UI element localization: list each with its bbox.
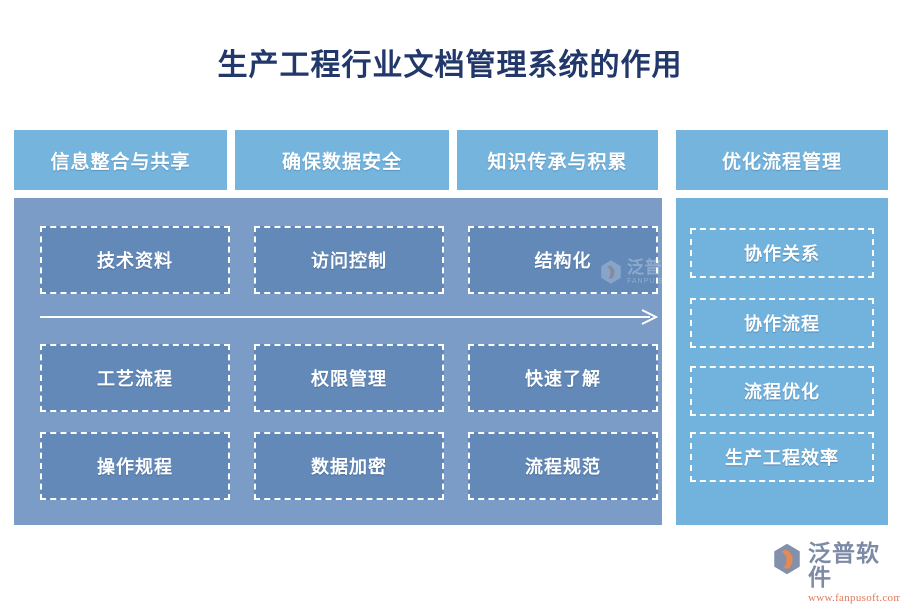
brand-url[interactable]: www.fanpusoft.com [808,592,900,604]
item-production-engineering-efficiency[interactable]: 生产工程效率 [690,432,874,482]
brand-text: 泛普软件 www.fanpusoft.com [808,542,900,604]
page-title: 生产工程行业文档管理系统的作用 [0,40,900,84]
header-chip-data-security[interactable]: 确保数据安全 [235,130,449,190]
header-chip-process-optimization[interactable]: 优化流程管理 [676,130,888,190]
item-permission-management[interactable]: 权限管理 [254,344,444,412]
item-quick-understanding[interactable]: 快速了解 [468,344,658,412]
fanpu-logo-icon [770,542,804,576]
brand-logo: 泛普软件 www.fanpusoft.com [770,542,900,604]
item-operating-procedures[interactable]: 操作规程 [40,432,230,500]
header-chip-row: 信息整合与共享 确保数据安全 知识传承与积累 优化流程管理 [14,130,888,190]
brand-name: 泛普软件 [808,542,900,590]
item-technical-documents[interactable]: 技术资料 [40,226,230,294]
item-process-standard[interactable]: 流程规范 [468,432,658,500]
left-panel: 技术资料 访问控制 结构化 工艺流程 权限管理 快速了解 操作规程 数据加密 流… [14,198,662,525]
header-chip-information-integration[interactable]: 信息整合与共享 [14,130,227,190]
right-panel: 协作关系 协作流程 流程优化 生产工程效率 [676,198,888,525]
item-collaboration-relationship[interactable]: 协作关系 [690,228,874,278]
item-process-flow[interactable]: 工艺流程 [40,344,230,412]
item-access-control[interactable]: 访问控制 [254,226,444,294]
infographic-page: 生产工程行业文档管理系统的作用 信息整合与共享 确保数据安全 知识传承与积累 优… [0,0,900,600]
item-structured[interactable]: 结构化 [468,226,658,294]
header-chip-knowledge-inheritance[interactable]: 知识传承与积累 [457,130,658,190]
item-collaboration-process[interactable]: 协作流程 [690,298,874,348]
item-data-encryption[interactable]: 数据加密 [254,432,444,500]
arrow-right-icon [40,308,658,326]
item-process-optimization[interactable]: 流程优化 [690,366,874,416]
